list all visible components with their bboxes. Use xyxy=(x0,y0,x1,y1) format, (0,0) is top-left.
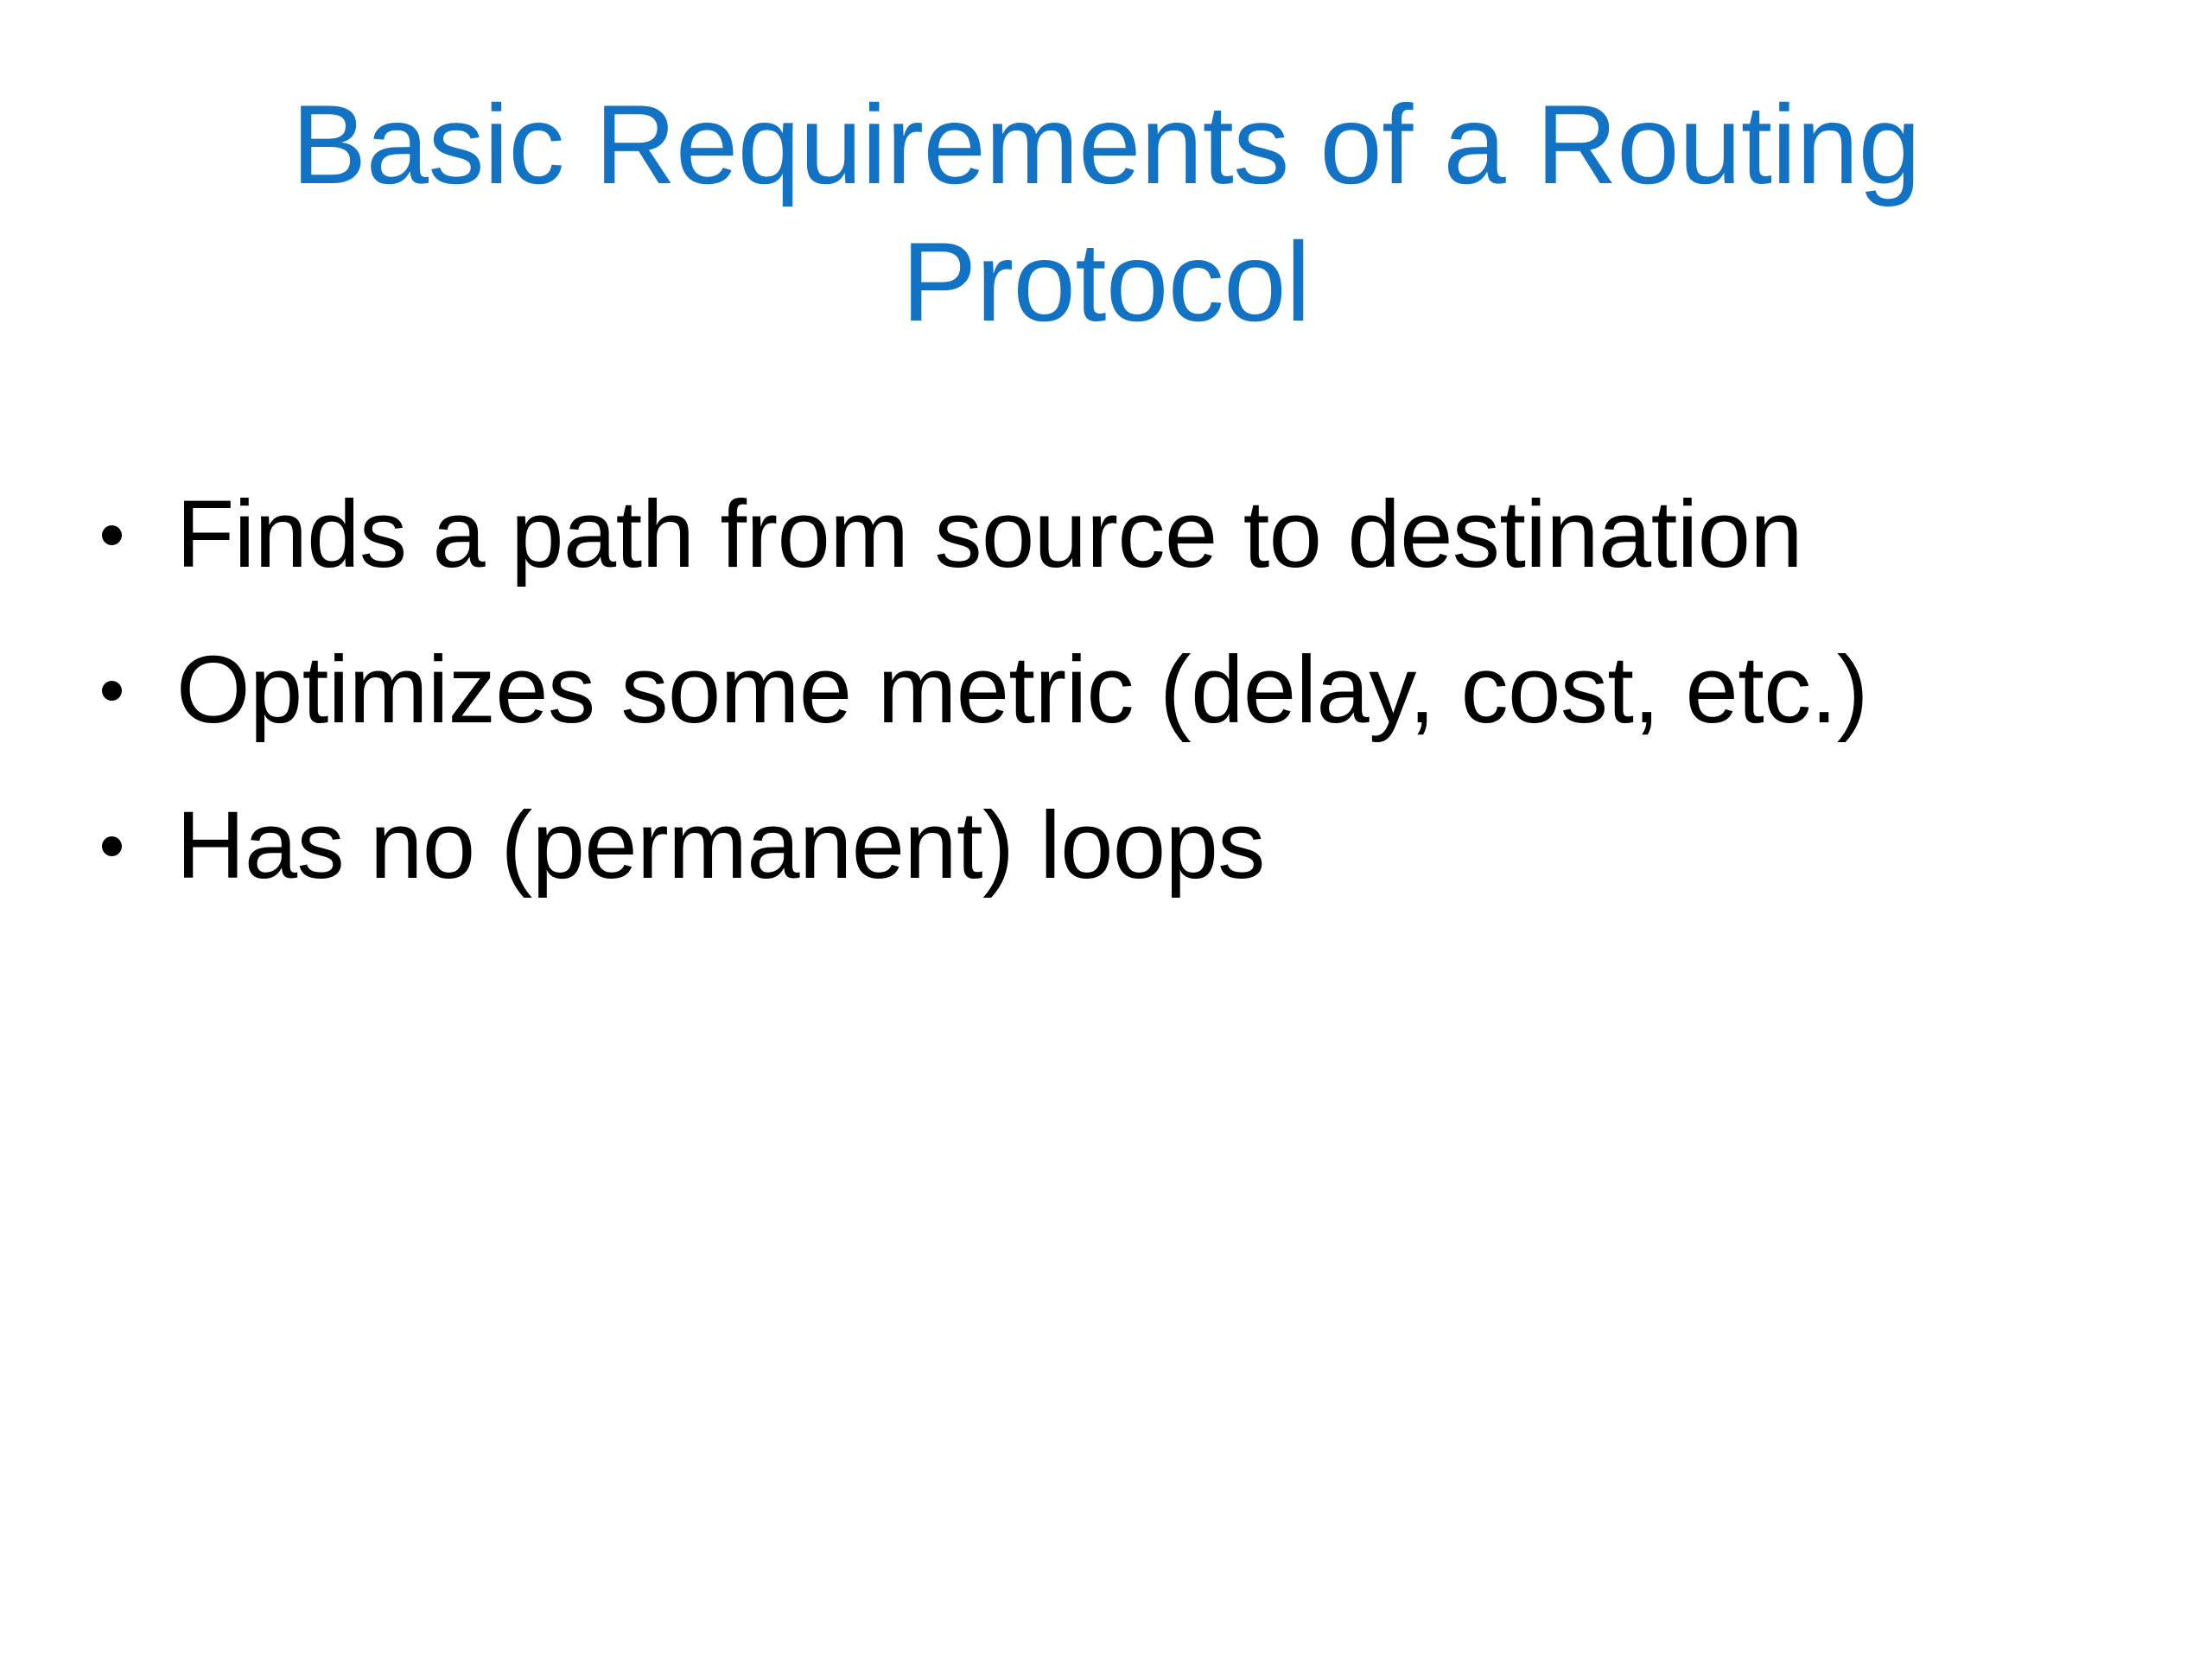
bullet-item-text: Has no (permanent) loops xyxy=(176,782,2133,910)
bullet-list-item: Has no (permanent) loops xyxy=(93,782,2133,910)
slide-title: Basic Requirements of a Routing Protocol xyxy=(164,76,2048,350)
bullet-item-text: Optimizes some metric (delay, cost, etc.… xyxy=(176,626,2133,754)
bullet-list-item: Optimizes some metric (delay, cost, etc.… xyxy=(93,626,2133,754)
presentation-slide: Basic Requirements of a Routing Protocol… xyxy=(0,0,2212,1658)
bullet-dot-icon xyxy=(93,471,176,599)
slide-title-line-1: Basic Requirements of a Routing xyxy=(164,76,2048,213)
slide-body-bullet-list: Finds a path from source to destination … xyxy=(93,471,2133,937)
slide-title-line-2: Protocol xyxy=(164,213,2048,351)
bullet-list-item: Finds a path from source to destination xyxy=(93,471,2133,599)
bullet-dot-icon xyxy=(93,782,176,910)
bullet-item-text: Finds a path from source to destination xyxy=(176,471,2133,599)
bullet-dot-icon xyxy=(93,626,176,754)
